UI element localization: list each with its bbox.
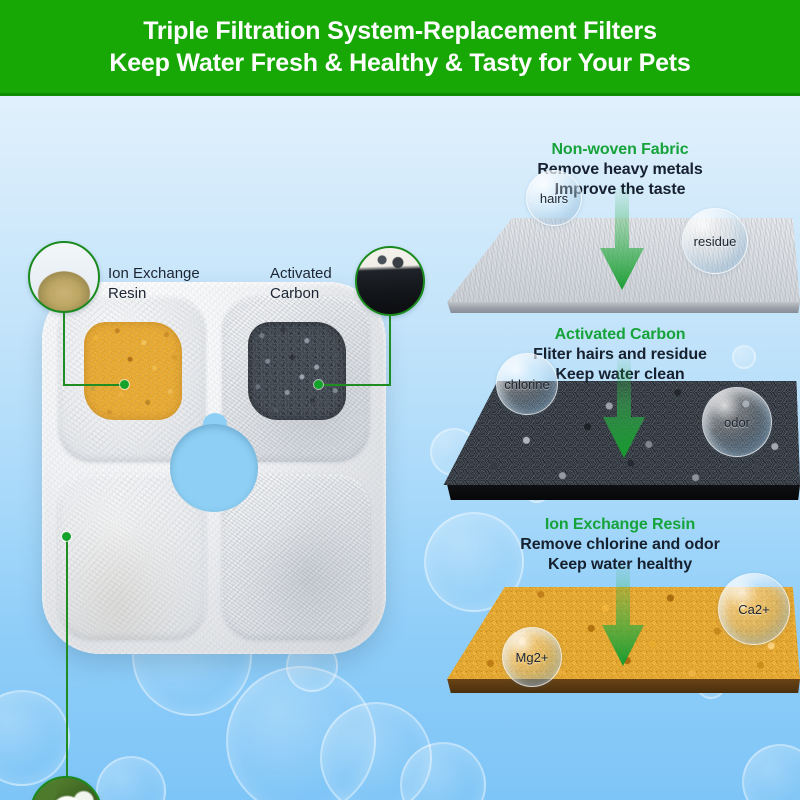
callout-label-ion-exchange-resin: Ion Exchange Resin: [108, 264, 200, 304]
bubble-label: Mg2+: [516, 650, 549, 665]
bubble-chlorine: chlorine: [496, 353, 558, 415]
resin-photo-icon: [28, 241, 100, 313]
layer-panel-non-woven-fabric: Non-woven Fabric Remove heavy metals Imp…: [440, 140, 800, 320]
slab-side-edge: [440, 485, 800, 500]
header-banner: Triple Filtration System-Replacement Fil…: [0, 0, 800, 96]
panel-title: Ion Exchange Resin: [440, 515, 800, 535]
lead-dot-resin: [120, 380, 129, 389]
slab-side-edge: [440, 302, 800, 313]
panel-subtitle-line-1: Remove heavy metals: [440, 160, 800, 180]
cotton-photo-icon: [30, 776, 102, 800]
panel-title: Activated Carbon: [440, 325, 800, 345]
lead-dot-fabric: [62, 532, 71, 541]
panel-heading: Non-woven Fabric Remove heavy metals Imp…: [440, 140, 800, 201]
center-hole: [170, 424, 258, 512]
panel-heading: Activated Carbon Fliter hairs and residu…: [440, 325, 800, 386]
bubble-label: hairs: [540, 191, 568, 206]
bubble-ca2plus: Ca2+: [718, 573, 790, 645]
filter-pad: [42, 282, 386, 654]
bubble-residue: residue: [682, 208, 748, 274]
slab-side-edge: [440, 679, 800, 693]
ion-exchange-resin-media: [84, 322, 182, 420]
lead-line-carbon-horizontal: [318, 384, 391, 386]
carbon-photo-icon: [355, 246, 425, 316]
lead-dot-carbon: [314, 380, 323, 389]
panel-subtitle-line-2: Improve the taste: [440, 180, 800, 200]
bubble-label: odor: [724, 415, 750, 430]
bubble-hairs: hairs: [526, 170, 582, 226]
product-callout-area: Ion Exchange Resin Activated Carbon Non-…: [0, 96, 440, 800]
layer-panel-ion-exchange-resin: Ion Exchange Resin Remove chlorine and o…: [440, 515, 800, 710]
banner-title-line-1: Triple Filtration System-Replacement Fil…: [143, 15, 657, 47]
panel-subtitle-line-1: Fliter hairs and residue: [440, 345, 800, 365]
lead-line-carbon-vertical: [389, 316, 391, 386]
bubble-odor: odor: [702, 387, 772, 457]
callout-label-activated-carbon: Activated Carbon: [270, 264, 332, 304]
bubble-label: Ca2+: [738, 602, 769, 617]
bubble-label: chlorine: [504, 377, 550, 392]
infographic-page: Triple Filtration System-Replacement Fil…: [0, 0, 800, 800]
lead-line-resin-vertical: [63, 313, 65, 386]
panel-subtitle-line-1: Remove chlorine and odor: [440, 535, 800, 555]
panel-title: Non-woven Fabric: [440, 140, 800, 160]
lead-line-resin-horizontal: [63, 384, 125, 386]
layer-panel-activated-carbon: Activated Carbon Fliter hairs and residu…: [440, 325, 800, 510]
bubble-label: residue: [694, 234, 737, 249]
activated-carbon-media: [248, 322, 346, 420]
lead-line-fabric-vertical: [66, 536, 68, 776]
panel-heading: Ion Exchange Resin Remove chlorine and o…: [440, 515, 800, 576]
banner-title-line-2: Keep Water Fresh & Healthy & Tasty for Y…: [109, 47, 690, 79]
decor-bubble: [742, 744, 800, 800]
panel-subtitle-line-2: Keep water clean: [440, 365, 800, 385]
bubble-mg2plus: Mg2+: [502, 627, 562, 687]
